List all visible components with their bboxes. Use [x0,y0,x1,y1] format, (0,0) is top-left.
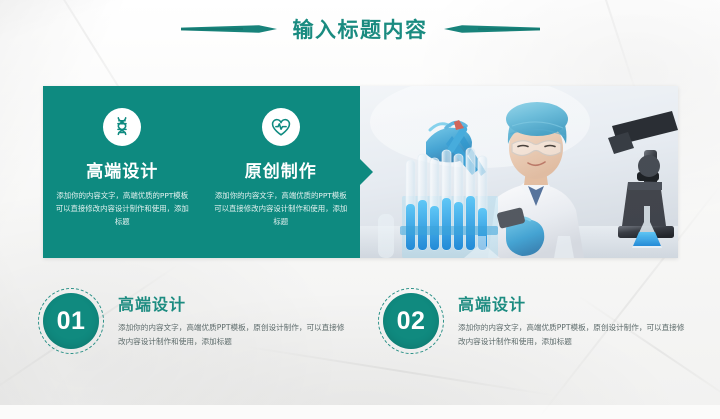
features-panel: 高端设计 添加你的内容文字，高端优质的PPT模板可以直接修改内容设计制作和使用，… [43,86,360,258]
item-title: 高端设计 [458,291,690,315]
number-badge: 01 [38,288,104,354]
item-text-block: 高端设计 添加你的内容文字，高端优质PPT模板，原创设计制作，可以直接修改内容设… [104,288,350,349]
dna-helix-icon [103,108,141,146]
number-badge: 02 [378,288,444,354]
feature-title: 原创制作 [245,157,317,182]
arrow-left-tapered-icon [444,23,540,35]
heart-pulse-icon [262,108,300,146]
list-item[interactable]: 01 高端设计 添加你的内容文字，高端优质PPT模板，原创设计制作，可以直接修改… [38,288,358,368]
item-title: 高端设计 [118,291,350,315]
item-text-block: 高端设计 添加你的内容文字，高端优质PPT模板，原创设计制作，可以直接修改内容设… [444,288,690,349]
feature-body: 添加你的内容文字，高端优质的PPT模板可以直接修改内容设计制作和使用，添加标题 [55,190,190,229]
item-number: 01 [43,293,99,349]
feature-title: 高端设计 [86,157,158,182]
hero-panel: 高端设计 添加你的内容文字，高端优质的PPT模板可以直接修改内容设计制作和使用，… [43,86,678,258]
feature-card-1[interactable]: 高端设计 添加你的内容文字，高端优质的PPT模板可以直接修改内容设计制作和使用，… [43,86,202,258]
slide-header: 输入标题内容 [0,8,720,50]
arrow-right-tapered-icon [181,23,277,35]
feature-card-2[interactable]: 原创制作 添加你的内容文字，高端优质的PPT模板可以直接修改内容设计制作和使用，… [202,86,361,258]
panel-arrow-notch [359,158,373,186]
page-title: 输入标题内容 [293,14,428,44]
list-item[interactable]: 02 高端设计 添加你的内容文字，高端优质PPT模板，原创设计制作，可以直接修改… [378,288,698,368]
item-body: 添加你的内容文字，高端优质PPT模板，原创设计制作，可以直接修改内容设计制作和使… [458,321,690,349]
slide-canvas: 输入标题内容 高端设计 [0,0,720,405]
lab-scientist-photo [360,86,678,258]
feature-body: 添加你的内容文字，高端优质的PPT模板可以直接修改内容设计制作和使用，添加标题 [214,190,349,229]
item-body: 添加你的内容文字，高端优质PPT模板，原创设计制作，可以直接修改内容设计制作和使… [118,321,350,349]
item-number: 02 [383,293,439,349]
